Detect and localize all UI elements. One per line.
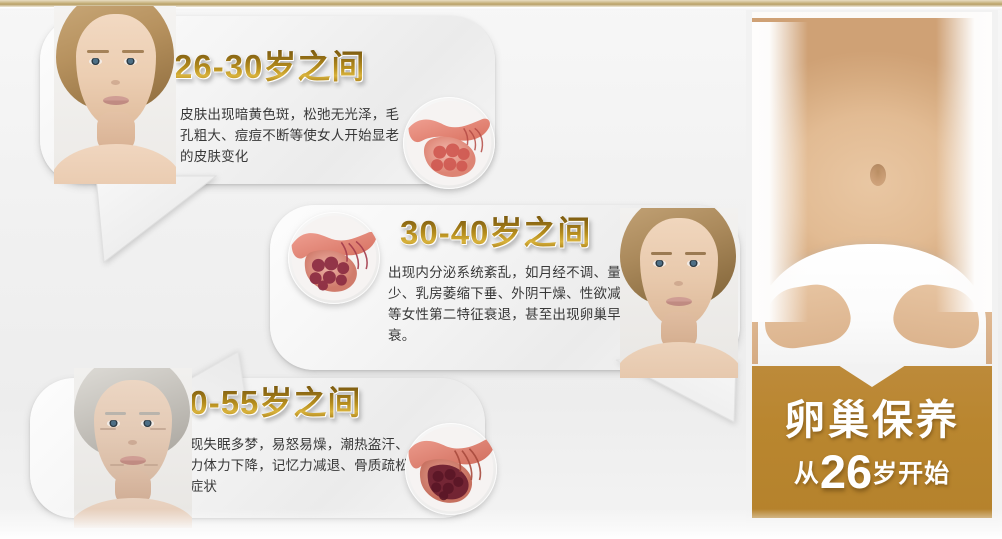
banner-notch	[752, 366, 992, 387]
banner-number: 26	[820, 445, 872, 498]
photo-edge-left	[752, 22, 808, 322]
poster-canvas: 26-30岁之间 皮肤出现暗黄色斑，松弛无光泽，毛孔粗大、痘痘不断等使女人开始显…	[0, 0, 1002, 539]
callout-tail-26-30	[96, 176, 226, 266]
age-description-30-40: 出现内分泌系统紊乱，如月经不调、量少、乳房萎缩下垂、外阴干燥、性欲减退等女性第二…	[388, 262, 636, 346]
bottom-fade	[0, 509, 1002, 539]
photo-edge-right	[936, 12, 992, 312]
banner-suffix: 岁开始	[872, 460, 950, 488]
banner-prefix: 从	[794, 460, 820, 488]
ovary-illustration-30-40	[288, 212, 380, 304]
ovary-illustration-40-55	[405, 423, 497, 515]
gold-banner: 卵巢保养 从26岁开始	[752, 366, 992, 518]
age-description-40-55: 出现失眠多梦，易怒易燥，潮热盗汗、精力体力下降，记忆力减退、骨质疏松等症状	[176, 434, 410, 497]
abdomen-photo	[752, 12, 992, 364]
age-title-40-55: 40-55岁之间	[170, 386, 361, 419]
ovary-illustration-26-30	[403, 97, 495, 189]
portrait-middle-aged-woman	[620, 208, 738, 378]
navel	[870, 164, 886, 186]
banner-subline: 从26岁开始	[752, 444, 992, 499]
portrait-older-woman	[74, 368, 192, 528]
age-description-26-30: 皮肤出现暗黄色斑，松弛无光泽，毛孔粗大、痘痘不断等使女人开始显老的皮肤变化	[180, 104, 410, 167]
age-title-30-40: 30-40岁之间	[400, 216, 591, 249]
banner-headline: 卵巢保养	[752, 386, 992, 446]
age-title-26-30: 26-30岁之间	[174, 50, 365, 83]
portrait-young-woman	[54, 6, 176, 184]
